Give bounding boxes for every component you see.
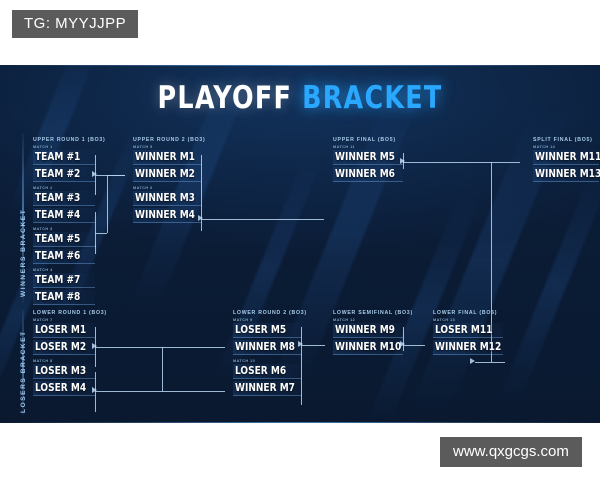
slot-team-2[interactable]: TEAM #2 bbox=[33, 167, 95, 182]
slot-label: LOSER M5 bbox=[235, 324, 286, 336]
connector bbox=[95, 233, 107, 234]
match-label: MATCH 7 bbox=[33, 318, 95, 322]
telegram-tag-badge: TG: MYYJJPP bbox=[12, 10, 138, 38]
slot-team-5[interactable]: TEAM #5 bbox=[33, 232, 95, 247]
match-label: MATCH 10 bbox=[233, 359, 301, 363]
connector-arrow bbox=[400, 158, 405, 164]
connector bbox=[403, 345, 425, 346]
match-label: MATCH 9 bbox=[233, 318, 301, 322]
slot-label: WINNER M7 bbox=[235, 382, 295, 394]
slot-label: LOSER M2 bbox=[35, 341, 86, 353]
slot-label: LOSER M1 bbox=[35, 324, 86, 336]
round-title: LOWER ROUND 2 (BO3) bbox=[233, 310, 301, 316]
connector-arrow bbox=[92, 343, 97, 349]
slot-loser-m5[interactable]: LOSER M5 bbox=[233, 323, 301, 338]
match-label: MATCH 13 bbox=[433, 318, 503, 322]
match-label: MATCH 3 bbox=[33, 227, 95, 231]
slot-winner-m2[interactable]: WINNER M2 bbox=[133, 167, 201, 182]
connector-arrow bbox=[92, 171, 97, 177]
round-lower-final: LOWER FINAL (BO5) MATCH 13 LOSER M11 WIN… bbox=[433, 310, 503, 357]
slot-loser-m3[interactable]: LOSER M3 bbox=[33, 364, 95, 379]
connector-arrow bbox=[400, 341, 405, 347]
round-title: UPPER FINAL (BO5) bbox=[333, 137, 403, 143]
connector bbox=[95, 347, 225, 348]
round-lower-round-2: LOWER ROUND 2 (BO3) MATCH 9 LOSER M5 WIN… bbox=[233, 310, 301, 398]
connector-arrow bbox=[298, 341, 303, 347]
slot-label: TEAM #8 bbox=[35, 291, 80, 303]
match-11[interactable]: MATCH 11 WINNER M5 WINNER M6 bbox=[333, 145, 403, 182]
connector bbox=[162, 347, 163, 391]
connector bbox=[301, 345, 325, 346]
round-lower-round-1: LOWER ROUND 1 (BO3) MATCH 7 LOSER M1 LOS… bbox=[33, 310, 95, 398]
title-playoff: PLAYOFF bbox=[158, 80, 293, 116]
match-4[interactable]: MATCH 4 TEAM #7 TEAM #8 bbox=[33, 268, 95, 305]
round-upper-round-2: UPPER ROUND 2 (BO3) MATCH 5 WINNER M1 WI… bbox=[133, 137, 201, 225]
slot-label: TEAM #5 bbox=[35, 233, 80, 245]
round-title: UPPER ROUND 1 (BO3) bbox=[33, 137, 95, 143]
match-3[interactable]: MATCH 3 TEAM #5 TEAM #6 bbox=[33, 227, 95, 264]
slot-label: WINNER M3 bbox=[135, 192, 195, 204]
connector bbox=[107, 175, 125, 176]
slot-label: WINNER M11 bbox=[535, 151, 600, 163]
page-title: PLAYOFF BRACKET bbox=[54, 80, 546, 116]
round-title: LOWER FINAL (BO5) bbox=[433, 310, 503, 316]
round-title: LOWER SEMIFINAL (BO3) bbox=[333, 310, 403, 316]
slot-winner-m12[interactable]: WINNER M12 bbox=[433, 340, 503, 355]
round-upper-final: UPPER FINAL (BO5) MATCH 11 WINNER M5 WIN… bbox=[333, 137, 403, 184]
slot-winner-m3[interactable]: WINNER M3 bbox=[133, 191, 201, 206]
slot-label: TEAM #4 bbox=[35, 209, 80, 221]
slot-team-8[interactable]: TEAM #8 bbox=[33, 290, 95, 305]
match-label: MATCH 12 bbox=[333, 318, 403, 322]
slot-winner-m7[interactable]: WINNER M7 bbox=[233, 381, 301, 396]
slot-winner-m13[interactable]: WINNER M13 bbox=[533, 167, 599, 182]
slot-label: WINNER M10 bbox=[335, 341, 401, 353]
slot-label: WINNER M9 bbox=[335, 324, 395, 336]
slot-label: WINNER M4 bbox=[135, 209, 195, 221]
connector bbox=[403, 162, 491, 163]
connector bbox=[491, 362, 505, 363]
round-title: UPPER ROUND 2 (BO3) bbox=[133, 137, 201, 143]
round-upper-round-1: UPPER ROUND 1 (BO3) MATCH 1 TEAM #1 TEAM… bbox=[33, 137, 95, 307]
slot-winner-m8[interactable]: WINNER M8 bbox=[233, 340, 301, 355]
connector bbox=[95, 391, 225, 392]
match-5[interactable]: MATCH 5 WINNER M1 WINNER M2 bbox=[133, 145, 201, 182]
slot-label: WINNER M2 bbox=[135, 168, 195, 180]
url-watermark-badge: www.qxgcgs.com bbox=[440, 437, 582, 467]
side-label-winners: WINNERS BRACKET bbox=[20, 209, 27, 297]
slot-winner-m1[interactable]: WINNER M1 bbox=[133, 150, 201, 165]
match-7[interactable]: MATCH 7 LOSER M1 LOSER M2 bbox=[33, 318, 95, 355]
slot-winner-m10[interactable]: WINNER M10 bbox=[333, 340, 403, 355]
connector bbox=[201, 219, 324, 220]
round-split-final: SPLIT FINAL (BO5) MATCH 14 WINNER M11 WI… bbox=[533, 137, 599, 184]
round-title: SPLIT FINAL (BO5) bbox=[533, 137, 599, 143]
slot-loser-m6[interactable]: LOSER M6 bbox=[233, 364, 301, 379]
match-8[interactable]: MATCH 8 LOSER M3 LOSER M4 bbox=[33, 359, 95, 396]
side-label-losers: LOSERS BRACKET bbox=[20, 330, 27, 413]
slot-label: LOSER M4 bbox=[35, 382, 86, 394]
slot-label: WINNER M13 bbox=[535, 168, 600, 180]
slot-label: WINNER M12 bbox=[435, 341, 501, 353]
slot-winner-m5[interactable]: WINNER M5 bbox=[333, 150, 403, 165]
slot-label: LOSER M3 bbox=[35, 365, 86, 377]
match-label: MATCH 14 bbox=[533, 145, 599, 149]
connector-arrow bbox=[198, 215, 203, 221]
match-label: MATCH 6 bbox=[133, 186, 201, 190]
connector bbox=[107, 175, 108, 233]
match-10[interactable]: MATCH 10 LOSER M6 WINNER M7 bbox=[233, 359, 301, 396]
connector bbox=[491, 162, 520, 163]
match-14[interactable]: MATCH 14 WINNER M11 WINNER M13 bbox=[533, 145, 599, 182]
slot-label: WINNER M8 bbox=[235, 341, 295, 353]
match-label: MATCH 8 bbox=[33, 359, 95, 363]
slot-label: TEAM #2 bbox=[35, 168, 80, 180]
screenshot-stage: TG: MYYJJPP PLAYOFF BRACKET WINNERS BRAC… bbox=[0, 0, 600, 480]
match-2[interactable]: MATCH 2 TEAM #3 TEAM #4 bbox=[33, 186, 95, 223]
slot-winner-m11[interactable]: WINNER M11 bbox=[533, 150, 599, 165]
bottom-glow-divider bbox=[0, 422, 600, 423]
connector bbox=[95, 245, 96, 247]
slot-label: WINNER M1 bbox=[135, 151, 195, 163]
slot-label: TEAM #7 bbox=[35, 274, 80, 286]
match-label: MATCH 2 bbox=[33, 186, 95, 190]
match-1[interactable]: MATCH 1 TEAM #1 TEAM #2 bbox=[33, 145, 95, 182]
slot-loser-m4[interactable]: LOSER M4 bbox=[33, 381, 95, 396]
match-9[interactable]: MATCH 9 LOSER M5 WINNER M8 bbox=[233, 318, 301, 355]
slot-loser-m11[interactable]: LOSER M11 bbox=[433, 323, 503, 338]
slot-team-4[interactable]: TEAM #4 bbox=[33, 208, 95, 223]
connector-arrow bbox=[92, 387, 97, 393]
match-6[interactable]: MATCH 6 WINNER M3 WINNER M4 bbox=[133, 186, 201, 223]
round-lower-semifinal: LOWER SEMIFINAL (BO3) MATCH 12 WINNER M9… bbox=[333, 310, 403, 357]
match-12[interactable]: MATCH 12 WINNER M9 WINNER M10 bbox=[333, 318, 403, 355]
slot-winner-m9[interactable]: WINNER M9 bbox=[333, 323, 403, 338]
slot-team-1[interactable]: TEAM #1 bbox=[33, 150, 95, 165]
slot-label: TEAM #1 bbox=[35, 151, 80, 163]
slot-team-6[interactable]: TEAM #6 bbox=[33, 249, 95, 264]
connector bbox=[475, 362, 491, 363]
slot-label: TEAM #3 bbox=[35, 192, 80, 204]
connector bbox=[301, 327, 302, 405]
top-glow-divider bbox=[0, 65, 600, 66]
slot-loser-m1[interactable]: LOSER M1 bbox=[33, 323, 95, 338]
round-title: LOWER ROUND 1 (BO3) bbox=[33, 310, 95, 316]
slot-team-7[interactable]: TEAM #7 bbox=[33, 273, 95, 288]
connector bbox=[403, 327, 404, 351]
match-label: MATCH 1 bbox=[33, 145, 95, 149]
slot-label: WINNER M6 bbox=[335, 168, 395, 180]
title-bracket: BRACKET bbox=[302, 80, 442, 116]
match-label: MATCH 11 bbox=[333, 145, 403, 149]
connector-arrow bbox=[470, 358, 475, 364]
slot-team-3[interactable]: TEAM #3 bbox=[33, 191, 95, 206]
slot-label: WINNER M5 bbox=[335, 151, 395, 163]
playoff-bracket-poster: PLAYOFF BRACKET WINNERS BRACKET LOSERS B… bbox=[0, 65, 600, 423]
slot-label: LOSER M6 bbox=[235, 365, 286, 377]
slot-loser-m2[interactable]: LOSER M2 bbox=[33, 340, 95, 355]
match-label: MATCH 4 bbox=[33, 268, 95, 272]
match-13[interactable]: MATCH 13 LOSER M11 WINNER M12 bbox=[433, 318, 503, 355]
slot-label: LOSER M11 bbox=[435, 324, 492, 336]
slot-winner-m6[interactable]: WINNER M6 bbox=[333, 167, 403, 182]
slot-label: TEAM #6 bbox=[35, 250, 80, 262]
match-label: MATCH 5 bbox=[133, 145, 201, 149]
slot-winner-m4[interactable]: WINNER M4 bbox=[133, 208, 201, 223]
